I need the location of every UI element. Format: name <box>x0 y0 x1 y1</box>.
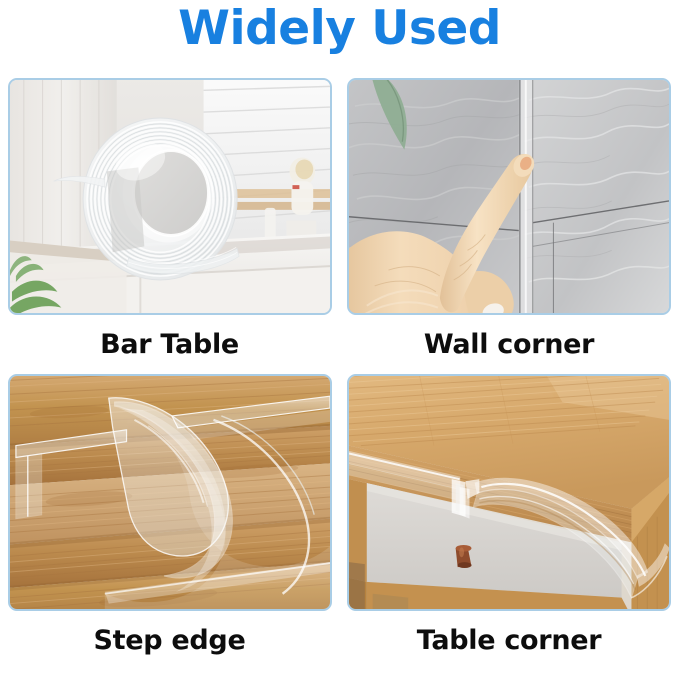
photo-table-corner <box>347 374 671 611</box>
scene-clear-tape-roll-on-bar-table <box>10 80 330 313</box>
scene-clear-tape-on-wooden-stair-step-edge <box>10 376 330 609</box>
photo-step-edge <box>8 374 332 611</box>
page-title: Widely Used <box>0 0 679 62</box>
panel-step-edge: Step edge <box>0 360 339 656</box>
panel-wall-corner: Wall corner <box>339 64 679 360</box>
scene-hand-pointing-at-tiled-wall-corner <box>349 80 669 313</box>
panel-bar-table: Bar Table <box>0 64 339 360</box>
panel-table-corner: Table corner <box>339 360 679 656</box>
photo-wall-corner <box>347 78 671 315</box>
photo-bar-table <box>8 78 332 315</box>
infographic-page: Widely Used <box>0 0 679 683</box>
caption-step-edge: Step edge <box>94 625 246 656</box>
caption-bar-table: Bar Table <box>100 329 239 360</box>
caption-wall-corner: Wall corner <box>424 329 594 360</box>
caption-table-corner: Table corner <box>417 625 602 656</box>
scene-clear-tape-on-wooden-table-corner-with-drawer <box>349 376 669 609</box>
panel-grid: Bar Table <box>0 64 679 683</box>
